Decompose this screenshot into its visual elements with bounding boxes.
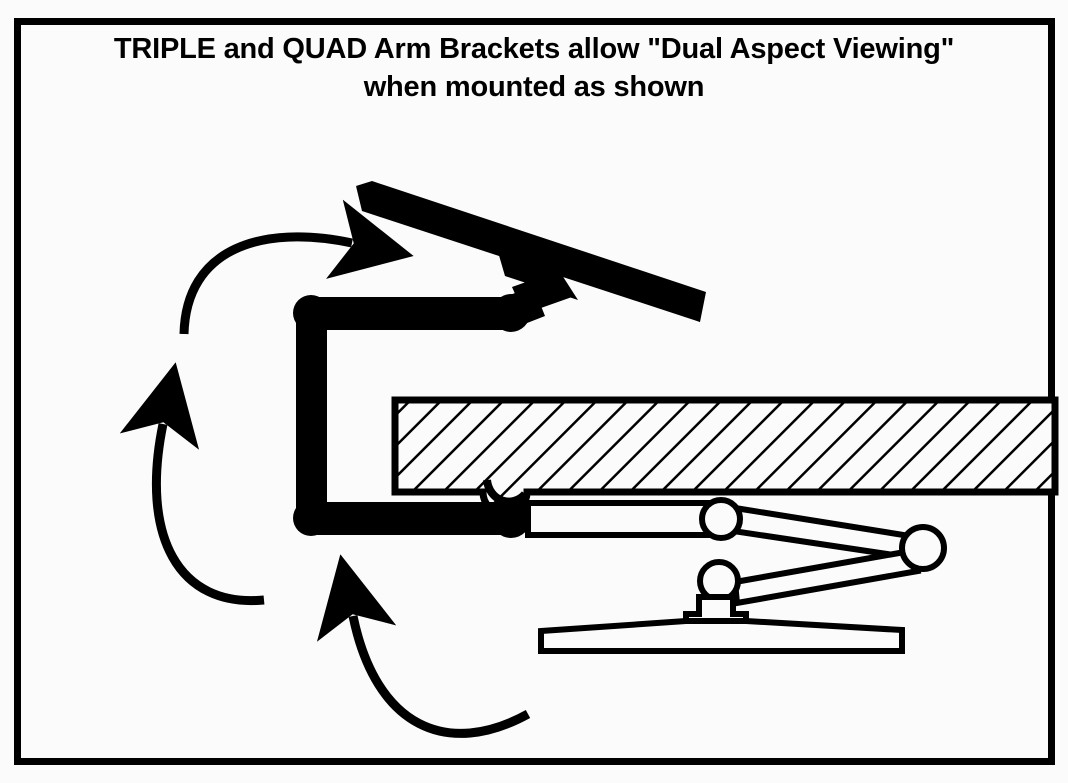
rotation-arrow-bottom: [353, 616, 528, 733]
joint-bottom-left: [293, 500, 329, 536]
ghost-joint-outer: [902, 527, 944, 569]
rotation-arrow-left: [156, 424, 264, 601]
figure-canvas: TRIPLE and QUAD Arm Brackets allow "Dual…: [0, 0, 1068, 783]
joint-top-left: [293, 295, 329, 331]
ghost-monitor: [541, 597, 902, 651]
ghost-arm-bracket: [528, 500, 944, 603]
bracket-diagram: [0, 0, 1068, 783]
ghost-joint-upper: [702, 500, 740, 538]
